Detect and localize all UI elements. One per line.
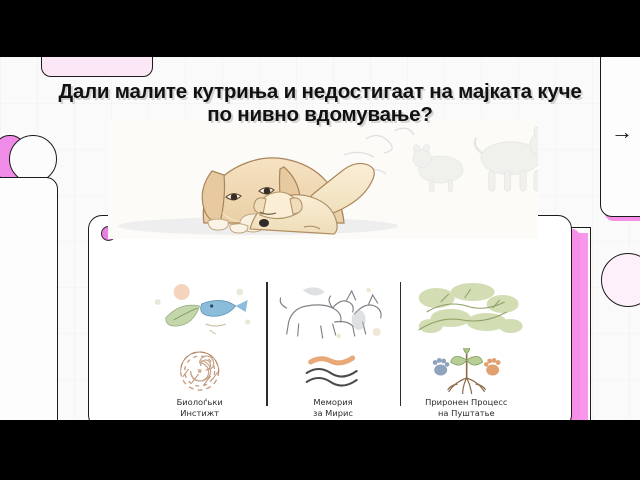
green-foliage-sketch xyxy=(406,278,527,346)
column-label: Приронен Процесс на Пуштатье xyxy=(425,397,507,419)
pale-pink-circle xyxy=(601,253,640,307)
column-label: Мемория за Мирис xyxy=(313,397,353,419)
content-card: Биолоѓьки Инстижт xyxy=(88,215,572,420)
three-column-list: Биолоѓьки Инстижт xyxy=(133,278,533,420)
white-circle-badge xyxy=(9,135,57,183)
left-tall-panel xyxy=(0,177,58,420)
column-scent-memory[interactable]: Мемория за Мирис xyxy=(266,278,399,420)
column-label: Биолоѓьки Инстижт xyxy=(177,397,223,419)
scent-waves-icon xyxy=(272,348,393,394)
leaf-and-fish-sketch xyxy=(139,278,260,346)
video-frame: → Дали малите кутриња и недостигаат на м… xyxy=(0,0,640,480)
slide-canvas: → Дали малите кутриња и недостигаат на м… xyxy=(0,57,640,420)
dna-spiral-icon xyxy=(139,348,260,394)
column-natural-release-process[interactable]: Приронен Процесс на Пуштатье xyxy=(400,278,533,420)
sprout-with-pawprints-icon xyxy=(406,348,527,394)
page-title: Дали малите кутриња и недостигаат на мај… xyxy=(0,81,640,127)
headline-line-1: Дали малите кутриња и недостигаат на мај… xyxy=(0,81,640,104)
headline-line-2: по нивно вдомување? xyxy=(0,104,640,127)
mother-dog-with-sleeping-puppy xyxy=(108,119,538,239)
pink-rounded-panel xyxy=(41,57,153,77)
column-biological-instinct[interactable]: Биолоѓьки Инстижт xyxy=(133,278,266,420)
running-dogs-outline-sketch xyxy=(272,278,393,346)
